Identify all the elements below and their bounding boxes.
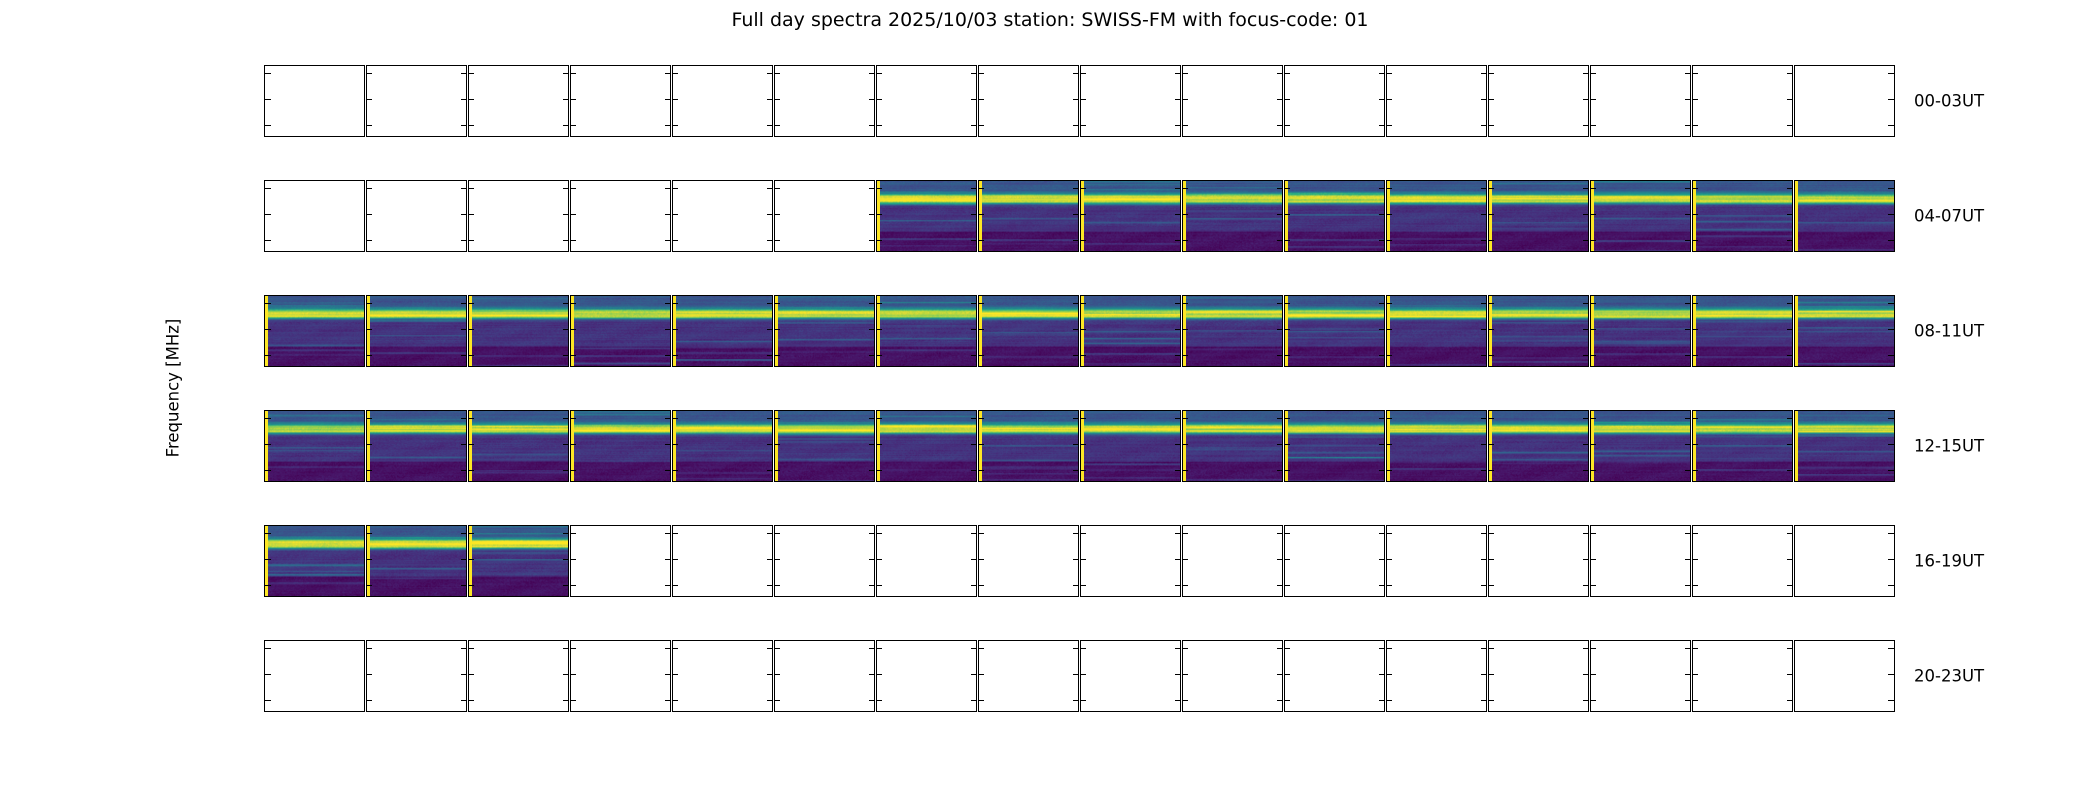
y-tick-mark [869,585,874,586]
spectrogram-panel[interactable]: 160014001200 [264,525,365,597]
y-tick-mark [1685,73,1690,74]
y-tick-mark [1277,303,1282,304]
spectrogram-panel[interactable] [1692,65,1793,137]
spectrogram-panel[interactable]: 15 [774,640,875,712]
spectrogram-panel[interactable] [774,410,875,482]
y-tick-mark [571,585,576,586]
y-tick-mark [979,533,984,534]
spectrogram-panel[interactable] [1692,525,1793,597]
spectrogram-panel[interactable] [1182,410,1283,482]
y-tick-mark [1277,355,1282,356]
x-tick-mark [1489,711,1490,712]
y-tick-mark [1787,355,1792,356]
y-tick-mark [563,355,568,356]
y-tick-mark [1081,99,1086,100]
spectrogram-image [1489,181,1588,251]
spectrogram-panel[interactable] [1284,180,1385,252]
y-tick-mark [1489,585,1494,586]
y-tick-mark [1081,533,1086,534]
y-tick-mark [1685,585,1690,586]
y-tick-mark [971,73,976,74]
y-tick-mark [571,329,576,330]
segment-separator [1795,181,1798,251]
spectrogram-panel[interactable] [366,65,467,137]
y-tick-mark [367,99,372,100]
spectrogram-panel[interactable] [774,65,875,137]
y-tick-mark [469,533,474,534]
spectrogram-panel[interactable] [1692,180,1793,252]
y-tick-mark [1888,303,1894,304]
y-tick-mark [979,329,984,330]
y-tick-mark [665,125,670,126]
y-tick-mark [877,418,882,419]
y-tick-mark [1379,674,1384,675]
y-tick-mark [1175,533,1180,534]
panel-grid: 16001400120000-03UT16001400120004-07UT16… [264,65,1895,712]
spectrogram-panel[interactable] [366,525,467,597]
y-tick-mark [1481,329,1486,330]
spectrogram-panel[interactable] [1794,525,1895,597]
spectrogram-panel[interactable] [876,410,977,482]
y-tick-mark [1183,559,1188,560]
y-tick-mark [367,303,372,304]
y-tick-mark [1277,418,1282,419]
y-tick-mark [563,700,568,701]
spectrogram-panel[interactable] [876,65,977,137]
spectrogram-panel[interactable] [366,410,467,482]
spectrogram-panel[interactable] [1590,525,1691,597]
y-tick-mark [775,329,780,330]
y-tick-mark [1285,73,1290,74]
spectrogram-panel[interactable] [366,295,467,367]
spectrogram-panel[interactable] [1080,180,1181,252]
y-tick-mark [265,470,271,471]
spectrogram-panel[interactable]: 30 [876,640,977,712]
y-tick-mark [1183,303,1188,304]
y-tick-mark [1081,444,1086,445]
y-tick-mark [1481,355,1486,356]
spectrogram-panel[interactable] [1080,65,1181,137]
spectrogram-panel[interactable] [876,180,977,252]
spectrogram-panel[interactable] [1386,295,1487,367]
spectrogram-panel[interactable]: 160014001200 [264,295,365,367]
y-tick-mark [1787,559,1792,560]
y-tick-mark [869,188,874,189]
y-tick-mark [461,125,466,126]
spectrogram-panel[interactable] [774,525,875,597]
y-tick-mark [1888,240,1894,241]
y-tick-mark [469,99,474,100]
y-tick-mark [461,418,466,419]
spectrogram-image [673,411,772,481]
y-tick-mark [1387,99,1392,100]
y-tick-mark [1073,240,1078,241]
y-tick-mark [673,700,678,701]
spectrogram-panel[interactable] [570,295,671,367]
x-tick-mark [877,711,878,712]
spectrogram-panel[interactable] [468,180,569,252]
y-tick-mark [1787,418,1792,419]
spectrogram-panel[interactable] [468,525,569,597]
y-tick-mark [1277,214,1282,215]
spectrogram-image [367,526,466,596]
spectrogram-panel[interactable] [1794,180,1895,252]
y-tick-mark [665,214,670,215]
y-tick-mark [1387,355,1392,356]
spectrogram-panel[interactable] [1590,180,1691,252]
y-tick-mark [265,418,271,419]
spectrogram-panel[interactable]: 00 [1488,640,1589,712]
y-tick-mark [571,533,576,534]
y-tick-mark [665,585,670,586]
y-tick-mark [461,73,466,74]
y-tick-mark [1175,444,1180,445]
spectrogram-image [775,411,874,481]
y-tick-mark [1073,188,1078,189]
spectrogram-panel[interactable] [1488,180,1589,252]
spectrogram-panel[interactable] [1794,65,1895,137]
y-tick-mark [1073,125,1078,126]
y-tick-mark [979,303,984,304]
row-time-label: 16-19UT [1914,552,1984,571]
y-tick-mark [1583,355,1588,356]
spectrogram-panel[interactable] [978,180,1079,252]
y-tick-mark [1081,188,1086,189]
y-tick-mark [1591,585,1596,586]
spectrogram-panel[interactable] [1794,410,1895,482]
spectrogram-panel[interactable]: 160014001200 [264,180,365,252]
y-tick-mark [461,700,466,701]
y-tick-mark [1583,533,1588,534]
y-tick-mark [775,444,780,445]
y-tick-mark [1081,700,1086,701]
y-tick-mark [971,700,976,701]
spectrogram-image [1387,296,1486,366]
spectrogram-panel[interactable]: 15 [1182,640,1283,712]
y-tick-mark [265,700,271,701]
y-tick-mark [1583,585,1588,586]
spectrogram-panel[interactable]: 160014001200 [264,65,365,137]
y-tick-mark [767,585,772,586]
y-tick-mark [1489,533,1494,534]
y-tick-mark [1285,99,1290,100]
y-tick-mark [767,674,772,675]
y-tick-mark [1285,240,1290,241]
y-tick-mark [563,188,568,189]
spectrogram-panel[interactable] [1386,180,1487,252]
spectrogram-panel[interactable] [1590,65,1691,137]
y-tick-mark [1073,73,1078,74]
spectrogram-panel[interactable] [1590,295,1691,367]
spectrogram-panel[interactable] [876,525,977,597]
y-tick-mark [665,355,670,356]
x-tick-mark [979,711,980,712]
y-tick-mark [1693,240,1698,241]
y-tick-mark [767,240,772,241]
spectrogram-image [1183,411,1282,481]
y-tick-mark [665,329,670,330]
row-time-label: 00-03UT [1914,92,1984,111]
y-tick-mark [461,214,466,215]
x-tick-mark [1183,711,1184,712]
y-tick-mark [461,303,466,304]
spectrogram-image [1591,411,1690,481]
y-tick-mark [775,533,780,534]
y-tick-mark [563,470,568,471]
spectrogram-panel[interactable]: 15 [366,640,467,712]
y-tick-mark [1693,125,1698,126]
y-tick-mark [367,470,372,471]
y-tick-mark [1693,470,1698,471]
y-tick-mark [461,240,466,241]
spectrogram-image [877,411,976,481]
y-tick-mark [563,125,568,126]
y-tick-mark [1489,648,1494,649]
spectrogram-panel[interactable] [978,65,1079,137]
y-tick-mark [367,73,372,74]
y-tick-mark [869,700,874,701]
y-tick-mark [877,533,882,534]
y-tick-mark [1888,125,1894,126]
y-tick-mark [775,188,780,189]
y-tick-mark [1591,533,1596,534]
spectrogram-panel[interactable]: 15 [1590,640,1691,712]
spectrogram-panel[interactable] [1182,295,1283,367]
spectrogram-panel[interactable] [1284,525,1385,597]
spectrogram-image [265,526,364,596]
y-tick-mark [265,303,271,304]
spectrogram-panel[interactable]: 45 [978,640,1079,712]
y-tick-mark [1175,329,1180,330]
y-tick-mark [877,700,882,701]
y-tick-mark [1583,674,1588,675]
y-tick-mark [1591,444,1596,445]
spectrogram-panel[interactable] [1284,65,1385,137]
spectrogram-image [469,296,568,366]
spectrogram-panel[interactable]: 45 [1794,640,1895,712]
spectrogram-panel[interactable] [672,180,773,252]
y-tick-mark [563,559,568,560]
y-tick-mark [1183,470,1188,471]
y-tick-mark [367,559,372,560]
y-tick-mark [469,585,474,586]
y-tick-mark [1489,700,1494,701]
y-tick-mark [673,355,678,356]
y-tick-mark [971,674,976,675]
y-tick-mark [1285,125,1290,126]
y-tick-mark [1277,73,1282,74]
y-tick-mark [367,533,372,534]
spectrogram-panel[interactable] [1080,525,1181,597]
spectrogram-image [1489,411,1588,481]
y-tick-mark [1073,99,1078,100]
y-tick-mark [1583,329,1588,330]
y-tick-mark [775,700,780,701]
spectrogram-panel[interactable] [1692,410,1793,482]
y-tick-mark [1175,355,1180,356]
y-tick-mark [1183,240,1188,241]
y-tick-mark [767,559,772,560]
spectrogram-panel[interactable] [1488,410,1589,482]
y-tick-mark [1591,470,1596,471]
y-tick-mark [563,674,568,675]
y-tick-mark [971,99,976,100]
y-tick-mark [1285,585,1290,586]
y-tick-mark [877,470,882,471]
y-tick-mark [469,700,474,701]
spectrogram-panel[interactable] [1284,295,1385,367]
spectrogram-panel[interactable]: 45 [570,640,671,712]
y-tick-mark [1489,214,1494,215]
y-tick-mark [1591,240,1596,241]
spectrogram-image [775,296,874,366]
y-tick-mark [563,444,568,445]
spectrogram-panel[interactable]: 30 [468,640,569,712]
y-tick-mark [673,214,678,215]
spectrogram-panel[interactable] [1182,65,1283,137]
spectrogram-panel[interactable] [672,65,773,137]
spectrogram-panel[interactable] [1590,410,1691,482]
spectrogram-panel[interactable] [468,65,569,137]
spectrogram-image [1081,296,1180,366]
y-tick-mark [571,73,576,74]
y-tick-mark [1285,188,1290,189]
y-tick-mark [1583,240,1588,241]
spectrogram-image [1183,181,1282,251]
x-tick-mark [1081,711,1082,712]
y-tick-mark [265,533,271,534]
y-tick-mark [767,214,772,215]
y-tick-mark [1489,559,1494,560]
spectrogram-panel[interactable] [774,180,875,252]
spectrogram-panel[interactable] [1284,410,1385,482]
spectrogram-panel[interactable]: 45 [1386,640,1487,712]
spectrogram-panel[interactable] [366,180,467,252]
spectrogram-panel[interactable] [978,295,1079,367]
y-tick-mark [1489,418,1494,419]
y-tick-mark [1591,700,1596,701]
y-tick-mark [1277,648,1282,649]
spectrogram-panel[interactable] [468,410,569,482]
y-tick-mark [1591,418,1596,419]
y-tick-mark [1073,533,1078,534]
spectrogram-panel[interactable]: 00 [672,640,773,712]
y-tick-mark [1081,648,1086,649]
y-tick-mark [775,240,780,241]
spectrogram-image [1489,296,1588,366]
y-tick-mark [1583,73,1588,74]
spectrogram-panel[interactable] [570,525,671,597]
y-tick-mark [1481,648,1486,649]
y-tick-mark [673,470,678,471]
y-tick-mark [665,444,670,445]
spectrogram-panel[interactable] [1488,65,1589,137]
y-tick-mark [767,533,772,534]
spectrogram-panel[interactable] [570,180,671,252]
y-tick-mark [1685,648,1690,649]
spectrogram-panel[interactable] [1182,180,1283,252]
y-tick-mark [265,99,271,100]
spectrogram-row: 160014001200 [264,525,1895,597]
spectrogram-panel[interactable]: 16001400120000 [264,640,365,712]
spectrogram-panel[interactable] [672,410,773,482]
y-tick-mark [877,585,882,586]
spectrogram-panel[interactable] [468,295,569,367]
y-tick-mark [1489,73,1494,74]
y-tick-mark [971,418,976,419]
y-tick-mark [869,125,874,126]
y-tick-mark [1183,214,1188,215]
spectrogram-panel[interactable] [672,525,773,597]
y-tick-mark [1277,559,1282,560]
spectrogram-panel[interactable]: 160014001200 [264,410,365,482]
y-tick-mark [1081,214,1086,215]
y-tick-mark [1591,99,1596,100]
y-tick-mark [1183,188,1188,189]
spectrogram-panel[interactable] [672,295,773,367]
spectrogram-panel[interactable] [774,295,875,367]
y-tick-mark [673,585,678,586]
spectrogram-panel[interactable] [570,410,671,482]
spectrogram-panel[interactable] [1386,410,1487,482]
spectrogram-panel[interactable] [1080,410,1181,482]
y-tick-mark [1379,470,1384,471]
y-tick-mark [775,585,780,586]
y-tick-mark [469,444,474,445]
spectrogram-panel[interactable] [570,65,671,137]
y-tick-mark [1787,303,1792,304]
spectrogram-panel[interactable] [1794,295,1895,367]
spectrogram-image [265,411,364,481]
spectrogram-panel[interactable]: 30 [1692,640,1793,712]
spectrogram-panel[interactable]: 00 [1080,640,1181,712]
y-tick-mark [869,648,874,649]
y-tick-mark [1183,444,1188,445]
y-tick-mark [1387,214,1392,215]
y-tick-mark [665,99,670,100]
spectrogram-row: 160014001200 [264,180,1895,252]
y-tick-mark [1787,73,1792,74]
spectrogram-panel[interactable] [1386,525,1487,597]
spectrogram-panel[interactable] [876,295,977,367]
y-tick-mark [665,73,670,74]
spectrogram-panel[interactable] [978,410,1079,482]
y-tick-mark [461,674,466,675]
spectrogram-image [571,411,670,481]
y-tick-mark [461,99,466,100]
spectrogram-panel[interactable] [1182,525,1283,597]
y-tick-mark [265,355,271,356]
y-tick-mark [869,470,874,471]
spectrogram-panel[interactable] [978,525,1079,597]
y-tick-mark [869,674,874,675]
spectrogram-image [1693,411,1792,481]
y-tick-mark [1787,674,1792,675]
spectrogram-panel[interactable] [1386,65,1487,137]
spectrogram-image [1387,181,1486,251]
y-tick-mark [1481,188,1486,189]
x-tick-mark [265,711,266,712]
y-tick-mark [1685,444,1690,445]
y-tick-mark [1787,585,1792,586]
spectrogram-panel[interactable] [1692,295,1793,367]
y-tick-mark [571,188,576,189]
spectrogram-panel[interactable] [1080,295,1181,367]
spectrogram-panel[interactable] [1488,295,1589,367]
spectrogram-panel[interactable] [1488,525,1589,597]
y-tick-mark [767,188,772,189]
spectrogram-panel[interactable]: 30 [1284,640,1385,712]
